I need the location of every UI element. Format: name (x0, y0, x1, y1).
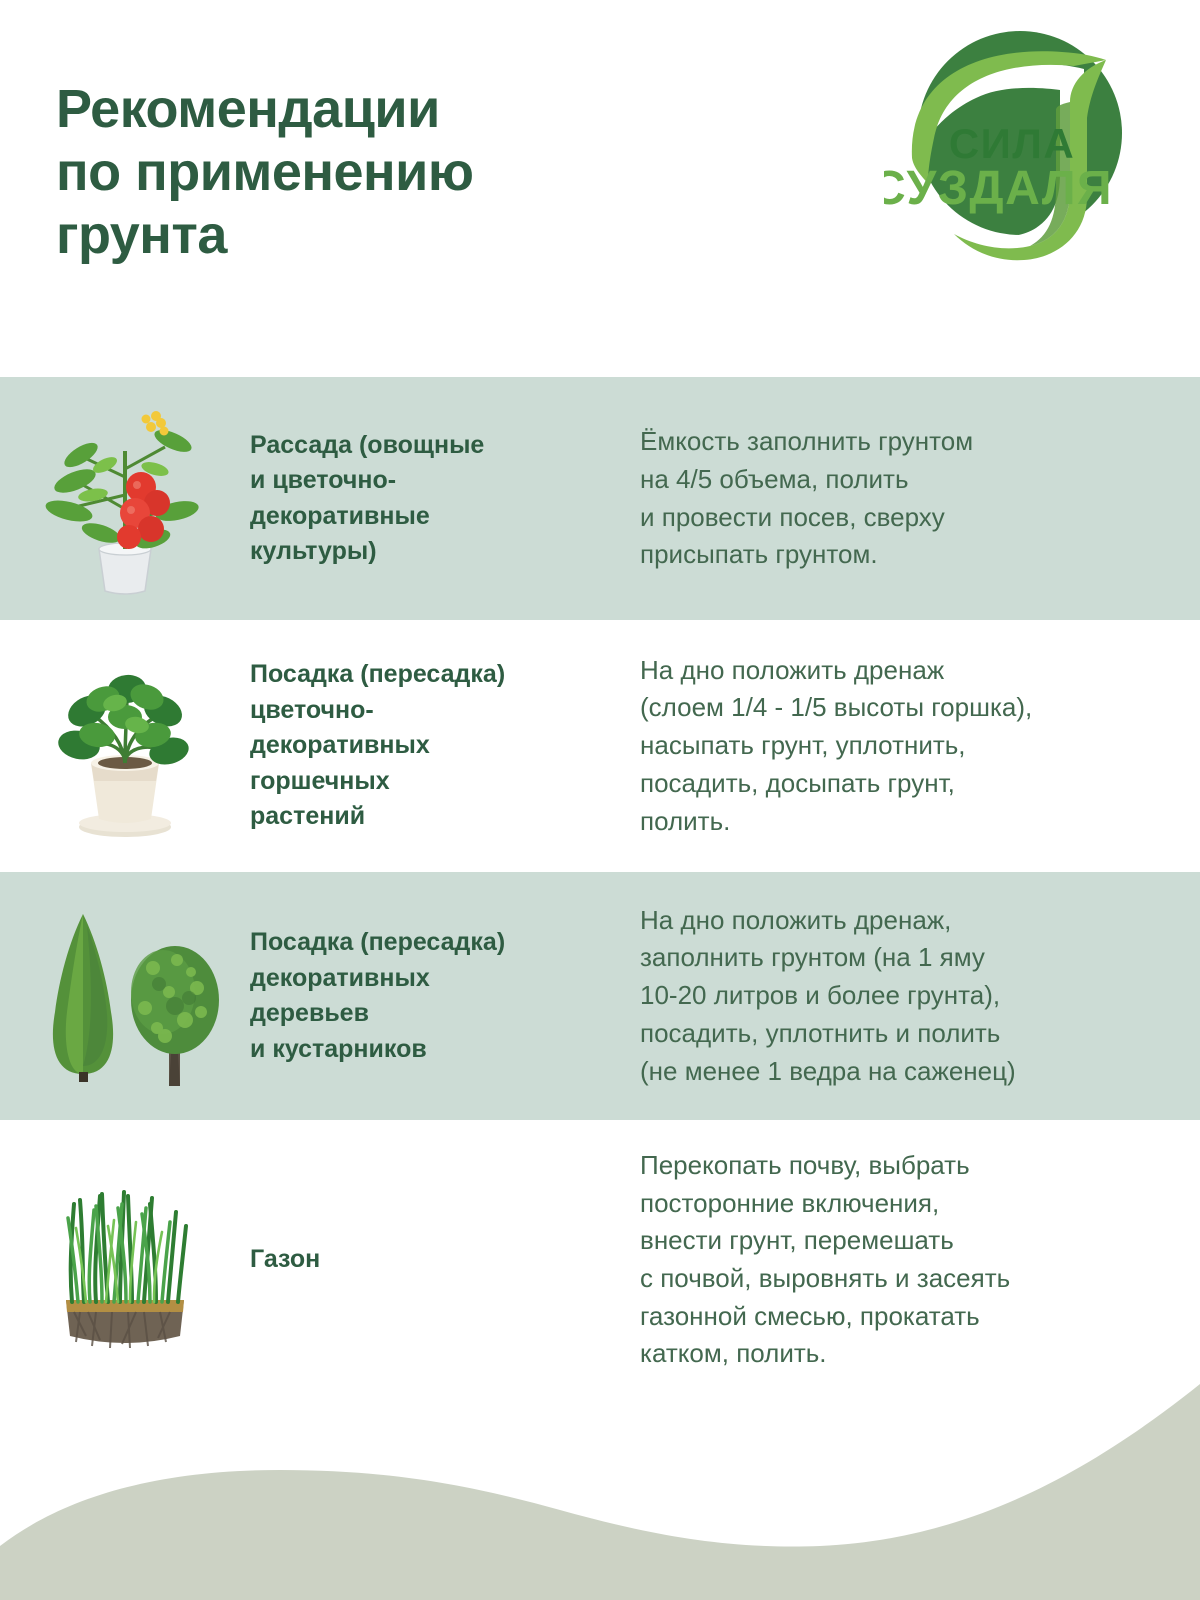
recommendations-list: Рассада (овощные и цветочно- декоративны… (0, 377, 1200, 1400)
lawn-turf-icon (0, 1120, 250, 1400)
table-row: Рассада (овощные и цветочно- декоративны… (0, 377, 1200, 620)
table-row: Газон Перекопать почву, выбрать посторон… (0, 1120, 1200, 1400)
potted-plant-icon (0, 620, 250, 872)
infographic-page: Рекомендации по применению грунта СИЛА С… (0, 0, 1200, 1600)
logo-line2: СУЗДАЛЯ (884, 162, 1113, 215)
row-description: Ёмкость заполнить грунтом на 4/5 объема,… (640, 423, 1200, 574)
trees-shrubs-icon (0, 872, 250, 1120)
logo-line1: СИЛА (949, 120, 1075, 167)
table-row: Посадка (пересадка) цветочно- декоративн… (0, 620, 1200, 872)
row-label: Газон (250, 1242, 640, 1278)
row-description: Перекопать почву, выбрать посторонние вк… (640, 1147, 1200, 1373)
sila-suzdalya-logo: СИЛА СУЗДАЛЯ (884, 18, 1146, 280)
header: Рекомендации по применению грунта СИЛА С… (0, 0, 1200, 377)
bottom-wave-decoration (0, 1360, 1200, 1600)
tomato-seedling-icon (0, 377, 250, 620)
row-label: Посадка (пересадка) цветочно- декоративн… (250, 657, 640, 835)
row-label: Посадка (пересадка) декоративных деревье… (250, 925, 640, 1067)
row-description: На дно положить дренаж, заполнить грунто… (640, 902, 1200, 1090)
row-description: На дно положить дренаж (слоем 1/4 - 1/5 … (640, 652, 1200, 840)
table-row: Посадка (пересадка) декоративных деревье… (0, 872, 1200, 1120)
page-title: Рекомендации по применению грунта (56, 78, 696, 268)
row-label: Рассада (овощные и цветочно- декоративны… (250, 428, 640, 570)
